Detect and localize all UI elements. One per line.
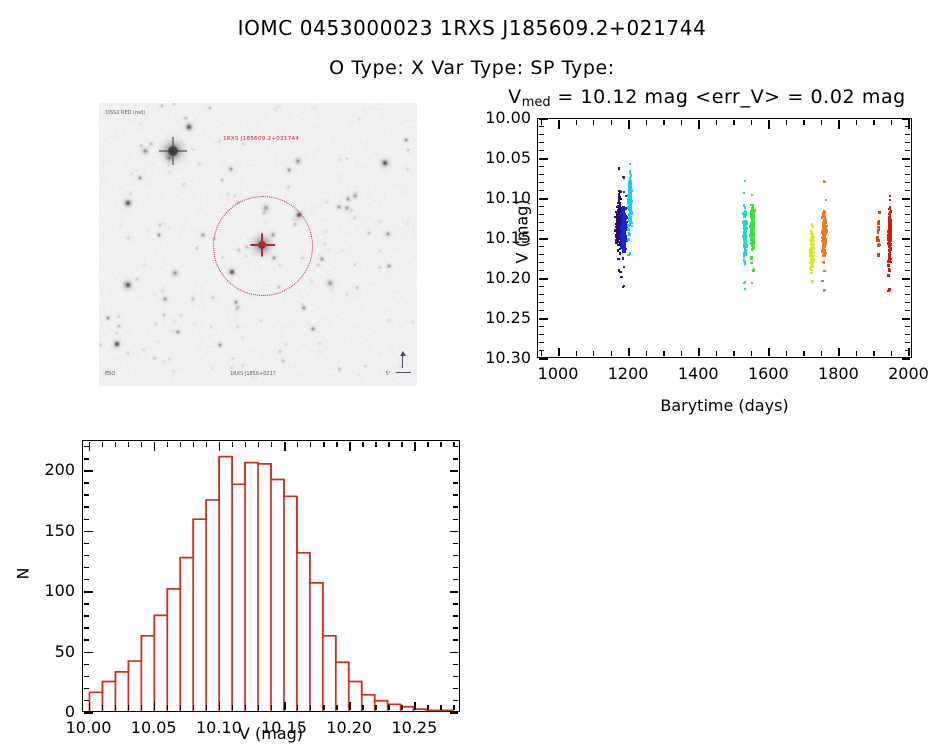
light-curve-point bbox=[622, 227, 624, 229]
axis-tick bbox=[539, 190, 544, 191]
axis-tick bbox=[84, 482, 89, 483]
axis-tick bbox=[84, 579, 89, 580]
axis-tick bbox=[219, 442, 220, 447]
histogram-plot-area[interactable] bbox=[82, 440, 460, 712]
axis-tick bbox=[453, 442, 454, 447]
light-curve-point bbox=[822, 244, 824, 246]
axis-tick bbox=[663, 120, 664, 125]
axis-tick bbox=[323, 705, 324, 710]
light-curve-point bbox=[750, 204, 752, 206]
axis-tick bbox=[388, 442, 389, 447]
axis-tick bbox=[245, 705, 246, 710]
light-curve-point bbox=[629, 211, 631, 213]
light-curve-point bbox=[809, 267, 811, 269]
light-curve-point bbox=[629, 233, 631, 235]
axis-tick bbox=[593, 351, 594, 356]
axis-tick bbox=[558, 348, 560, 356]
axis-tick bbox=[154, 442, 155, 447]
survey-note-bottom-left: ESO bbox=[105, 371, 115, 377]
light-curve-point bbox=[620, 276, 622, 278]
axis-tick bbox=[427, 442, 428, 447]
axis-tick bbox=[539, 134, 544, 135]
axis-tick bbox=[440, 705, 441, 710]
axis-tick bbox=[905, 270, 910, 271]
axis-tick bbox=[84, 664, 89, 665]
axis-tick bbox=[593, 120, 594, 125]
light-curve-point bbox=[811, 239, 813, 241]
light-curve-point bbox=[823, 270, 825, 272]
light-curve-point bbox=[623, 223, 625, 225]
axis-tick bbox=[539, 198, 544, 199]
axis-tick bbox=[541, 120, 542, 125]
axis-tick bbox=[84, 688, 89, 689]
light-curve-point bbox=[619, 252, 621, 254]
light-curve-point bbox=[889, 249, 891, 251]
light-curve-point bbox=[876, 236, 878, 238]
axis-tick bbox=[193, 705, 194, 710]
axis-tick-label: 10.05 bbox=[470, 148, 531, 167]
light-curve-point bbox=[751, 224, 753, 226]
axis-tick-label: 1000 bbox=[524, 364, 592, 383]
light-curve-point bbox=[743, 254, 745, 256]
axis-tick bbox=[681, 120, 682, 125]
light-curve-panel: 10.0010.0510.1010.1510.2010.2510.3010001… bbox=[470, 104, 944, 404]
axis-tick bbox=[558, 120, 560, 129]
light-curve-point bbox=[822, 246, 824, 248]
axis-tick bbox=[873, 351, 874, 356]
axis-tick bbox=[905, 190, 910, 191]
axis-tick bbox=[84, 652, 93, 654]
axis-tick bbox=[401, 705, 402, 710]
axis-tick bbox=[453, 555, 458, 556]
axis-tick-label: 1800 bbox=[804, 364, 872, 383]
axis-tick bbox=[102, 705, 103, 710]
axis-tick-label: 10.00 bbox=[470, 108, 531, 127]
light-curve-point bbox=[621, 232, 623, 234]
axis-tick bbox=[539, 158, 544, 159]
light-curve-point bbox=[752, 269, 754, 271]
axis-tick bbox=[375, 442, 376, 447]
north-arrow-icon bbox=[402, 352, 403, 368]
axis-tick bbox=[84, 458, 89, 459]
axis-tick bbox=[541, 351, 542, 356]
histogram-x-axis-label: V (mag) bbox=[82, 724, 460, 743]
axis-tick-label: 10.30 bbox=[470, 348, 531, 367]
light-curve-point bbox=[617, 216, 619, 218]
light-curve-point bbox=[888, 229, 890, 231]
axis-tick bbox=[450, 470, 458, 472]
light-curve-x-axis-label: Barytime (days) bbox=[537, 396, 912, 415]
light-curve-point bbox=[630, 213, 632, 215]
axis-tick bbox=[297, 442, 298, 447]
axis-tick bbox=[115, 442, 116, 447]
light-curve-point bbox=[878, 239, 880, 241]
axis-tick bbox=[310, 705, 311, 710]
axis-tick bbox=[539, 246, 544, 247]
light-curve-point bbox=[744, 229, 746, 231]
light-curve-point bbox=[751, 238, 753, 240]
light-curve-point bbox=[888, 288, 890, 290]
axis-tick bbox=[453, 603, 458, 604]
axis-tick bbox=[838, 120, 840, 129]
axis-tick bbox=[232, 705, 233, 710]
axis-tick bbox=[539, 318, 544, 319]
axis-tick bbox=[84, 639, 89, 640]
light-curve-point bbox=[878, 255, 880, 257]
axis-tick bbox=[375, 705, 376, 710]
axis-tick bbox=[84, 603, 89, 604]
axis-tick bbox=[453, 506, 458, 507]
axis-tick bbox=[206, 705, 207, 710]
light-curve-point bbox=[629, 252, 631, 254]
axis-tick-label: 150 bbox=[0, 521, 75, 540]
axis-tick bbox=[539, 174, 544, 175]
light-curve-point bbox=[889, 199, 891, 201]
axis-tick bbox=[427, 705, 428, 710]
light-curve-point bbox=[751, 214, 753, 216]
axis-tick bbox=[84, 470, 93, 472]
light-curve-point bbox=[823, 225, 825, 227]
axis-tick bbox=[905, 238, 910, 239]
axis-tick bbox=[905, 286, 910, 287]
axis-tick bbox=[450, 712, 458, 714]
light-curve-point bbox=[631, 222, 633, 224]
light-curve-point bbox=[889, 215, 891, 217]
axis-tick bbox=[453, 579, 458, 580]
axis-tick bbox=[905, 222, 910, 223]
light-curve-point bbox=[825, 231, 827, 233]
light-curve-point bbox=[630, 200, 632, 202]
light-curve-point bbox=[622, 176, 624, 178]
axis-tick-label: 10.25 bbox=[470, 308, 531, 327]
axis-tick bbox=[128, 442, 129, 447]
axis-tick bbox=[821, 351, 822, 356]
axis-tick bbox=[768, 120, 770, 129]
axis-tick bbox=[891, 120, 892, 125]
light-curve-point bbox=[623, 213, 625, 215]
light-curve-point bbox=[624, 244, 626, 246]
axis-tick bbox=[258, 442, 259, 447]
light-curve-point bbox=[889, 234, 891, 236]
light-curve-point bbox=[623, 217, 625, 219]
axis-tick bbox=[453, 627, 458, 628]
light-curve-point bbox=[622, 286, 624, 288]
light-curve-point bbox=[813, 255, 815, 257]
axis-tick-label: 1200 bbox=[594, 364, 662, 383]
axis-tick bbox=[905, 150, 910, 151]
axis-tick bbox=[768, 348, 770, 356]
light-curve-point bbox=[618, 167, 620, 169]
axis-tick bbox=[539, 294, 544, 295]
light-curve-point bbox=[743, 239, 745, 241]
light-curve-plot-area[interactable] bbox=[537, 118, 912, 358]
light-curve-point bbox=[627, 224, 629, 226]
light-curve-point bbox=[811, 280, 813, 282]
light-curve-point bbox=[825, 222, 827, 224]
light-curve-point bbox=[624, 207, 626, 209]
axis-tick bbox=[663, 351, 664, 356]
axis-tick bbox=[89, 702, 91, 710]
axis-tick bbox=[271, 705, 272, 710]
axis-tick bbox=[539, 326, 544, 327]
light-curve-point bbox=[624, 251, 626, 253]
light-curve-point bbox=[628, 193, 630, 195]
axis-tick bbox=[539, 262, 544, 263]
axis-tick bbox=[905, 310, 910, 311]
light-curve-point bbox=[629, 163, 631, 165]
axis-tick bbox=[453, 705, 454, 710]
axis-tick bbox=[167, 442, 168, 447]
target-crosshair-vertical bbox=[261, 234, 263, 256]
axis-tick bbox=[401, 442, 402, 447]
axis-tick bbox=[539, 142, 544, 143]
axis-tick bbox=[219, 705, 220, 710]
light-curve-point bbox=[823, 290, 825, 292]
light-curve-point bbox=[750, 262, 752, 264]
light-curve-point bbox=[630, 203, 632, 205]
axis-tick bbox=[453, 543, 458, 544]
light-curve-point bbox=[824, 254, 826, 256]
axis-tick bbox=[84, 519, 89, 520]
light-curve-point bbox=[752, 219, 754, 221]
light-curve-point bbox=[810, 263, 812, 265]
object-type-line: O Type: X Var Type: SP Type: bbox=[0, 57, 944, 79]
axis-tick bbox=[905, 230, 910, 231]
light-curve-point bbox=[623, 236, 625, 238]
light-curve-point bbox=[888, 256, 890, 258]
axis-tick bbox=[349, 442, 350, 447]
axis-tick bbox=[453, 639, 458, 640]
axis-tick bbox=[539, 302, 544, 303]
axis-tick bbox=[856, 351, 857, 356]
light-curve-point bbox=[751, 282, 753, 284]
axis-tick bbox=[89, 442, 91, 451]
light-curve-point bbox=[624, 239, 626, 241]
light-curve-point bbox=[618, 269, 620, 271]
light-curve-point bbox=[744, 281, 746, 283]
axis-tick bbox=[786, 351, 787, 356]
axis-tick bbox=[905, 334, 910, 335]
light-curve-point bbox=[745, 227, 747, 229]
axis-tick bbox=[362, 705, 363, 710]
light-curve-point bbox=[877, 231, 879, 233]
light-curve-point bbox=[744, 180, 746, 182]
light-curve-point bbox=[810, 259, 812, 261]
axis-tick bbox=[905, 214, 910, 215]
light-curve-point bbox=[618, 190, 620, 192]
axis-tick bbox=[539, 334, 544, 335]
axis-tick bbox=[751, 351, 752, 356]
light-curve-point bbox=[743, 223, 745, 225]
light-curve-point bbox=[618, 197, 620, 199]
light-curve-point bbox=[617, 258, 619, 260]
light-curve-point bbox=[823, 210, 825, 212]
axis-tick bbox=[821, 120, 822, 125]
light-curve-point bbox=[810, 244, 812, 246]
light-curve-point bbox=[627, 238, 629, 240]
axis-tick bbox=[310, 442, 311, 447]
light-curve-point bbox=[745, 211, 747, 213]
axis-tick bbox=[576, 120, 577, 125]
axis-tick bbox=[539, 182, 544, 183]
axis-tick bbox=[908, 120, 910, 129]
light-curve-point bbox=[889, 195, 891, 197]
axis-tick bbox=[453, 482, 458, 483]
axis-tick bbox=[576, 351, 577, 356]
axis-tick bbox=[905, 246, 910, 247]
light-curve-point bbox=[888, 232, 890, 234]
axis-tick bbox=[611, 120, 612, 125]
axis-tick bbox=[115, 705, 116, 710]
object-id-overlay-label: 1RXS J185609.2+021744 bbox=[223, 136, 299, 142]
axis-tick bbox=[698, 120, 700, 129]
axis-tick bbox=[539, 222, 544, 223]
light-curve-point bbox=[811, 249, 813, 251]
light-curve-point bbox=[878, 243, 880, 245]
axis-tick bbox=[539, 166, 544, 167]
axis-tick bbox=[539, 254, 544, 255]
light-curve-point bbox=[877, 221, 879, 223]
axis-tick bbox=[891, 351, 892, 356]
light-curve-point bbox=[752, 234, 754, 236]
axis-tick bbox=[450, 591, 458, 593]
axis-tick bbox=[733, 120, 734, 125]
histogram-bars bbox=[83, 441, 459, 712]
axis-tick bbox=[539, 270, 544, 271]
axis-tick bbox=[539, 206, 544, 207]
axis-tick bbox=[803, 120, 804, 125]
axis-tick-label: 50 bbox=[0, 642, 75, 661]
light-curve-point bbox=[823, 180, 825, 182]
light-curve-point bbox=[889, 239, 891, 241]
axis-tick bbox=[450, 652, 458, 654]
light-curve-point bbox=[752, 231, 754, 233]
axis-tick bbox=[414, 705, 415, 710]
axis-tick bbox=[362, 442, 363, 447]
axis-tick bbox=[84, 494, 89, 495]
axis-tick bbox=[258, 705, 259, 710]
axis-tick bbox=[453, 458, 458, 459]
light-curve-point bbox=[744, 248, 746, 250]
axis-tick bbox=[84, 531, 93, 533]
page-title: IOMC 0453000023 1RXS J185609.2+021744 bbox=[0, 16, 944, 40]
light-curve-point bbox=[617, 231, 619, 233]
axis-tick-label: 1400 bbox=[664, 364, 732, 383]
axis-tick bbox=[905, 134, 910, 135]
axis-tick bbox=[440, 442, 441, 447]
axis-tick bbox=[628, 348, 630, 356]
axis-tick bbox=[206, 442, 207, 447]
light-curve-point bbox=[627, 228, 629, 230]
light-curve-point bbox=[822, 250, 824, 252]
light-curve-point bbox=[629, 185, 631, 187]
axis-tick bbox=[905, 254, 910, 255]
axis-tick bbox=[453, 494, 458, 495]
axis-tick bbox=[733, 351, 734, 356]
light-curve-point bbox=[743, 233, 745, 235]
axis-tick bbox=[84, 555, 89, 556]
light-curve-point bbox=[889, 223, 891, 225]
target-aperture-circle bbox=[213, 196, 313, 296]
axis-tick bbox=[284, 705, 285, 710]
axis-tick bbox=[905, 174, 910, 175]
axis-tick bbox=[453, 567, 458, 568]
axis-tick bbox=[539, 126, 544, 127]
light-curve-point bbox=[751, 241, 753, 243]
axis-tick bbox=[698, 348, 700, 356]
light-curve-point bbox=[887, 260, 889, 262]
light-curve-point bbox=[743, 259, 745, 261]
axis-tick bbox=[84, 712, 93, 714]
axis-tick bbox=[453, 676, 458, 677]
axis-tick-label: 200 bbox=[0, 460, 75, 479]
light-curve-point bbox=[743, 235, 745, 237]
axis-tick bbox=[167, 705, 168, 710]
axis-tick bbox=[611, 351, 612, 356]
scale-bar-icon bbox=[396, 372, 411, 373]
axis-tick bbox=[908, 348, 910, 356]
sky-survey-image[interactable]: 1RXS J185609.2+021744 DSS2 RED (red) ESO… bbox=[99, 103, 417, 386]
axis-tick bbox=[539, 150, 544, 151]
light-curve-point bbox=[823, 239, 825, 241]
axis-tick bbox=[905, 166, 910, 167]
axis-tick bbox=[856, 120, 857, 125]
light-curve-point bbox=[744, 263, 746, 265]
light-curve-point bbox=[624, 231, 626, 233]
light-curve-point bbox=[889, 269, 891, 271]
axis-tick bbox=[786, 120, 787, 125]
axis-tick bbox=[905, 182, 910, 183]
light-curve-point bbox=[889, 247, 891, 249]
light-curve-point bbox=[824, 217, 826, 219]
axis-tick bbox=[84, 676, 89, 677]
axis-tick bbox=[84, 567, 89, 568]
axis-tick bbox=[539, 278, 544, 279]
axis-tick bbox=[905, 326, 910, 327]
axis-tick bbox=[905, 278, 910, 279]
axis-tick bbox=[297, 705, 298, 710]
light-curve-point bbox=[743, 204, 745, 206]
axis-tick bbox=[84, 591, 93, 593]
axis-tick-label: 2000 bbox=[874, 364, 942, 383]
light-curve-point bbox=[821, 280, 823, 282]
survey-note-bottom-center: 1RXS J1856+0217 bbox=[230, 371, 276, 377]
axis-tick bbox=[716, 351, 717, 356]
axis-tick bbox=[453, 615, 458, 616]
axis-tick bbox=[84, 627, 89, 628]
survey-note-top-left: DSS2 RED (red) bbox=[106, 110, 145, 116]
axis-tick bbox=[905, 142, 910, 143]
light-curve-point bbox=[878, 211, 880, 213]
axis-tick bbox=[284, 442, 285, 447]
light-curve-point bbox=[622, 257, 624, 259]
axis-tick bbox=[232, 442, 233, 447]
light-curve-point bbox=[811, 225, 813, 227]
light-curve-point bbox=[620, 235, 622, 237]
axis-tick bbox=[681, 351, 682, 356]
axis-tick bbox=[453, 664, 458, 665]
light-curve-point bbox=[628, 190, 630, 192]
light-curve-point bbox=[887, 274, 889, 276]
axis-tick bbox=[539, 214, 544, 215]
axis-tick bbox=[873, 120, 874, 125]
axis-tick bbox=[180, 705, 181, 710]
axis-tick bbox=[646, 351, 647, 356]
axis-tick bbox=[803, 351, 804, 356]
axis-tick bbox=[905, 318, 910, 319]
axis-tick bbox=[450, 531, 458, 533]
axis-tick bbox=[453, 519, 458, 520]
